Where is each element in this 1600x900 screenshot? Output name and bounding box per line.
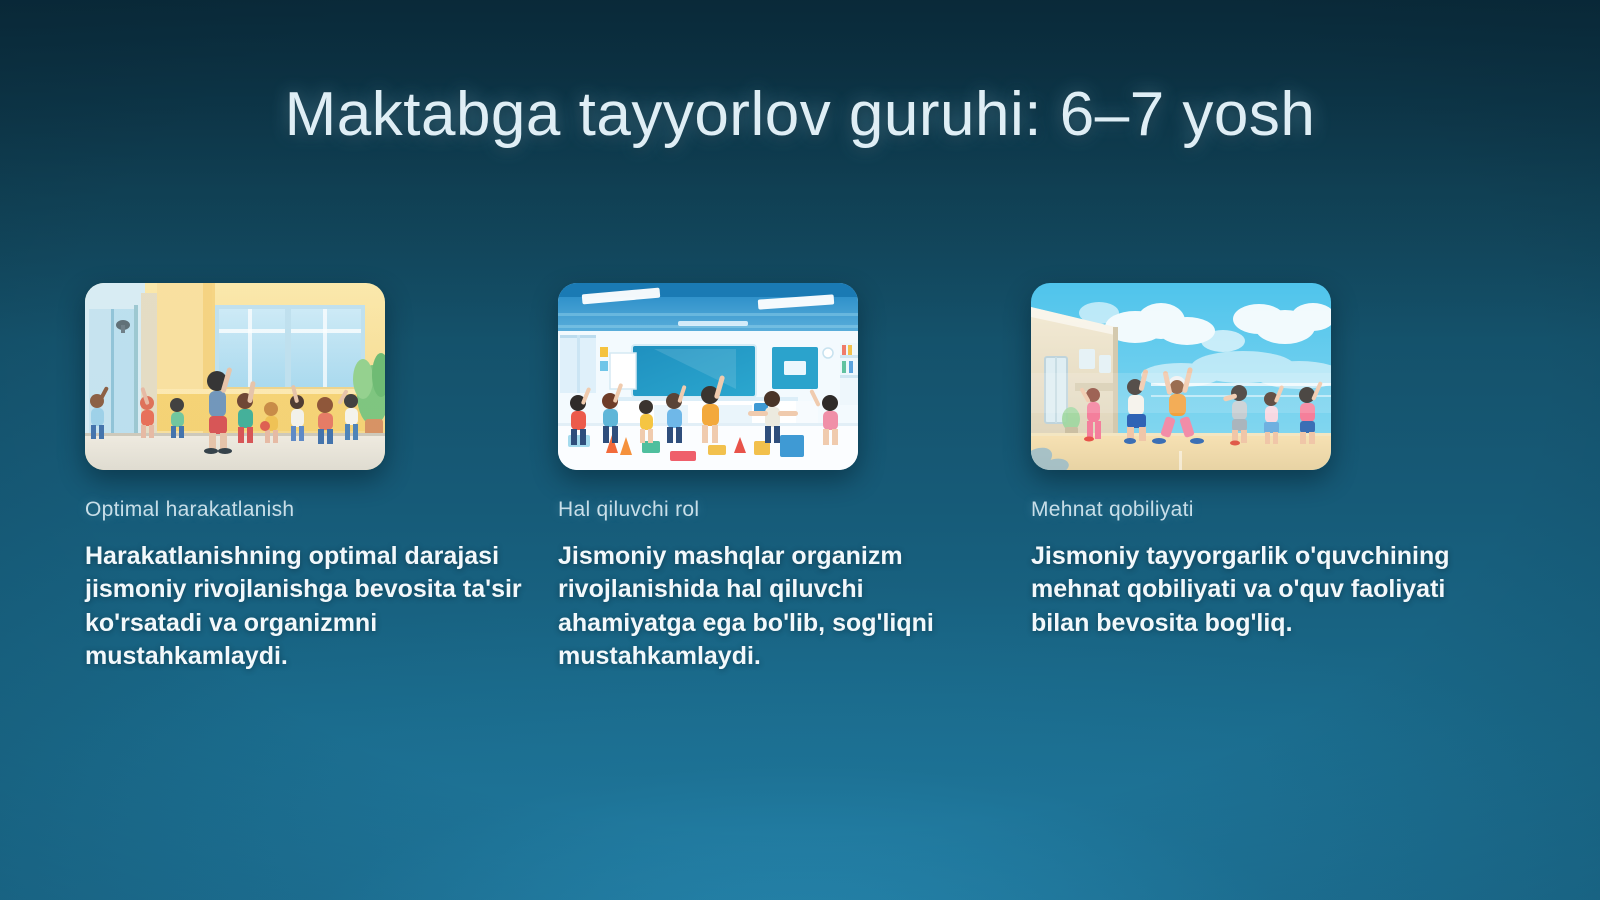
card-2-thumbnail — [558, 283, 858, 470]
card-3-eyebrow: Mehnat qobiliyati — [1031, 498, 1331, 522]
card-1-thumbnail — [85, 283, 385, 470]
card-mehnat-qobiliyati: Mehnat qobiliyati Jismoniy tayyorgarlik … — [1031, 283, 1331, 673]
card-1-body: Harakatlanishning optimal darajasi jismo… — [85, 540, 533, 673]
card-1-eyebrow: Optimal harakatlanish — [85, 498, 385, 522]
classroom-corridor-exercise-illustration — [85, 283, 385, 470]
card-optimal-harakatlanish: Optimal harakatlanish Harakatlanishning … — [85, 283, 385, 673]
slide-title: Maktabga tayyorlov guruhi: 6–7 yosh — [0, 79, 1600, 150]
card-hal-qiluvchi-rol: Hal qiluvchi rol Jismoniy mashqlar organ… — [558, 283, 858, 673]
card-2-body: Jismoniy mashqlar organizm rivojlanishid… — [558, 540, 983, 673]
card-3-thumbnail — [1031, 283, 1331, 470]
slide-root: Maktabga tayyorlov guruhi: 6–7 yosh — [0, 0, 1600, 900]
outdoor-schoolyard-exercise-illustration — [1031, 283, 1331, 470]
card-2-eyebrow: Hal qiluvchi rol — [558, 498, 858, 522]
bright-classroom-exercise-illustration — [558, 283, 858, 470]
card-row: Optimal harakatlanish Harakatlanishning … — [85, 283, 1525, 673]
card-3-body: Jismoniy tayyorgarlik o'quvchining mehna… — [1031, 540, 1486, 640]
